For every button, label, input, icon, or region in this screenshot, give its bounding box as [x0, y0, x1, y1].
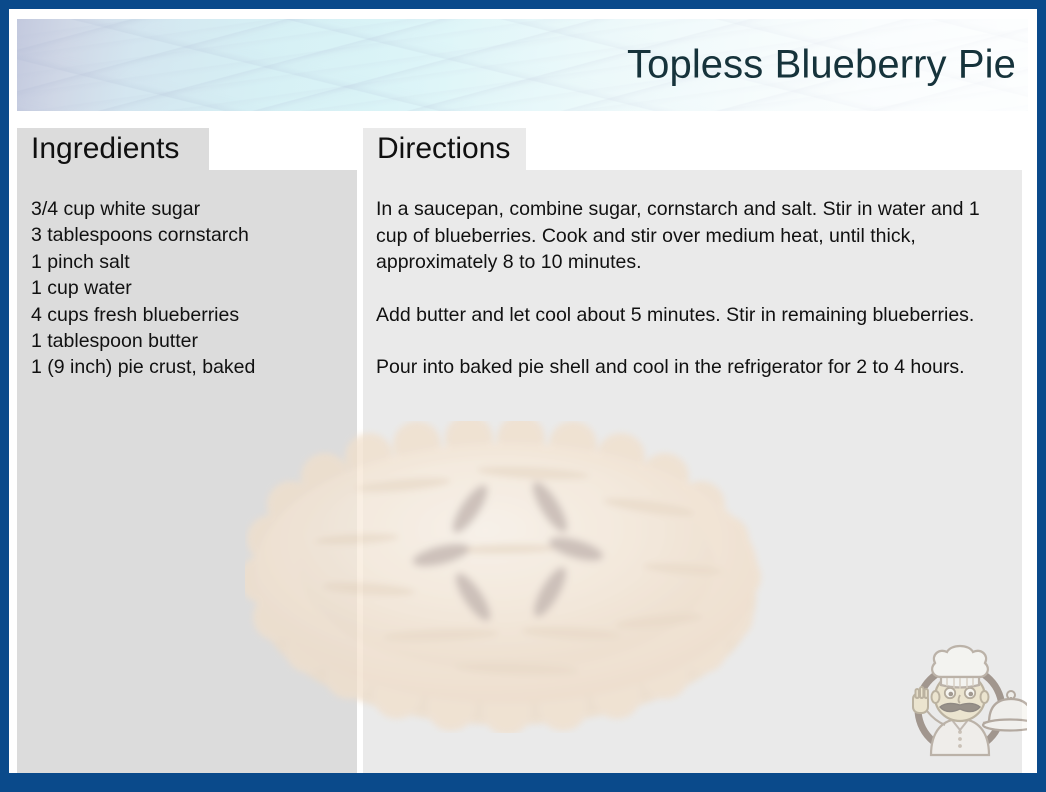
directions-tab-notch	[526, 128, 1022, 170]
ingredients-heading-tab: Ingredients	[17, 128, 209, 170]
ingredient-list: 3/4 cup white sugar 3 tablespoons cornst…	[31, 196, 341, 381]
directions-body: In a saucepan, combine sugar, cornstarch…	[363, 170, 1022, 773]
directions-panel: Directions In a saucepan, combine sugar,…	[363, 128, 1022, 773]
list-item: 3 tablespoons cornstarch	[31, 222, 341, 248]
list-item: 4 cups fresh blueberries	[31, 302, 341, 328]
direction-step: Pour into baked pie shell and cool in th…	[376, 354, 1008, 381]
list-item: 1 cup water	[31, 275, 341, 301]
list-item: 3/4 cup white sugar	[31, 196, 341, 222]
list-item: 1 tablespoon butter	[31, 328, 341, 354]
directions-heading-label: Directions	[377, 132, 510, 166]
ingredients-panel: Ingredients 3/4 cup white sugar 3 tables…	[17, 128, 357, 773]
list-item: 1 pinch salt	[31, 249, 341, 275]
header-banner: Topless Blueberry Pie	[17, 19, 1028, 111]
recipe-page: Topless Blueberry Pie Ingredients 3/4 cu…	[9, 9, 1037, 773]
directions-heading-tab: Directions	[363, 128, 526, 170]
direction-step: Add butter and let cool about 5 minutes.…	[376, 302, 1008, 329]
recipe-card-frame: Topless Blueberry Pie Ingredients 3/4 cu…	[0, 0, 1046, 792]
list-item: 1 (9 inch) pie crust, baked	[31, 354, 341, 380]
direction-step: In a saucepan, combine sugar, cornstarch…	[376, 196, 1008, 276]
page-title: Topless Blueberry Pie	[627, 43, 1016, 88]
ingredients-tab-notch	[209, 128, 357, 170]
ingredients-heading-label: Ingredients	[31, 132, 179, 166]
ingredients-body: 3/4 cup white sugar 3 tablespoons cornst…	[17, 170, 357, 773]
